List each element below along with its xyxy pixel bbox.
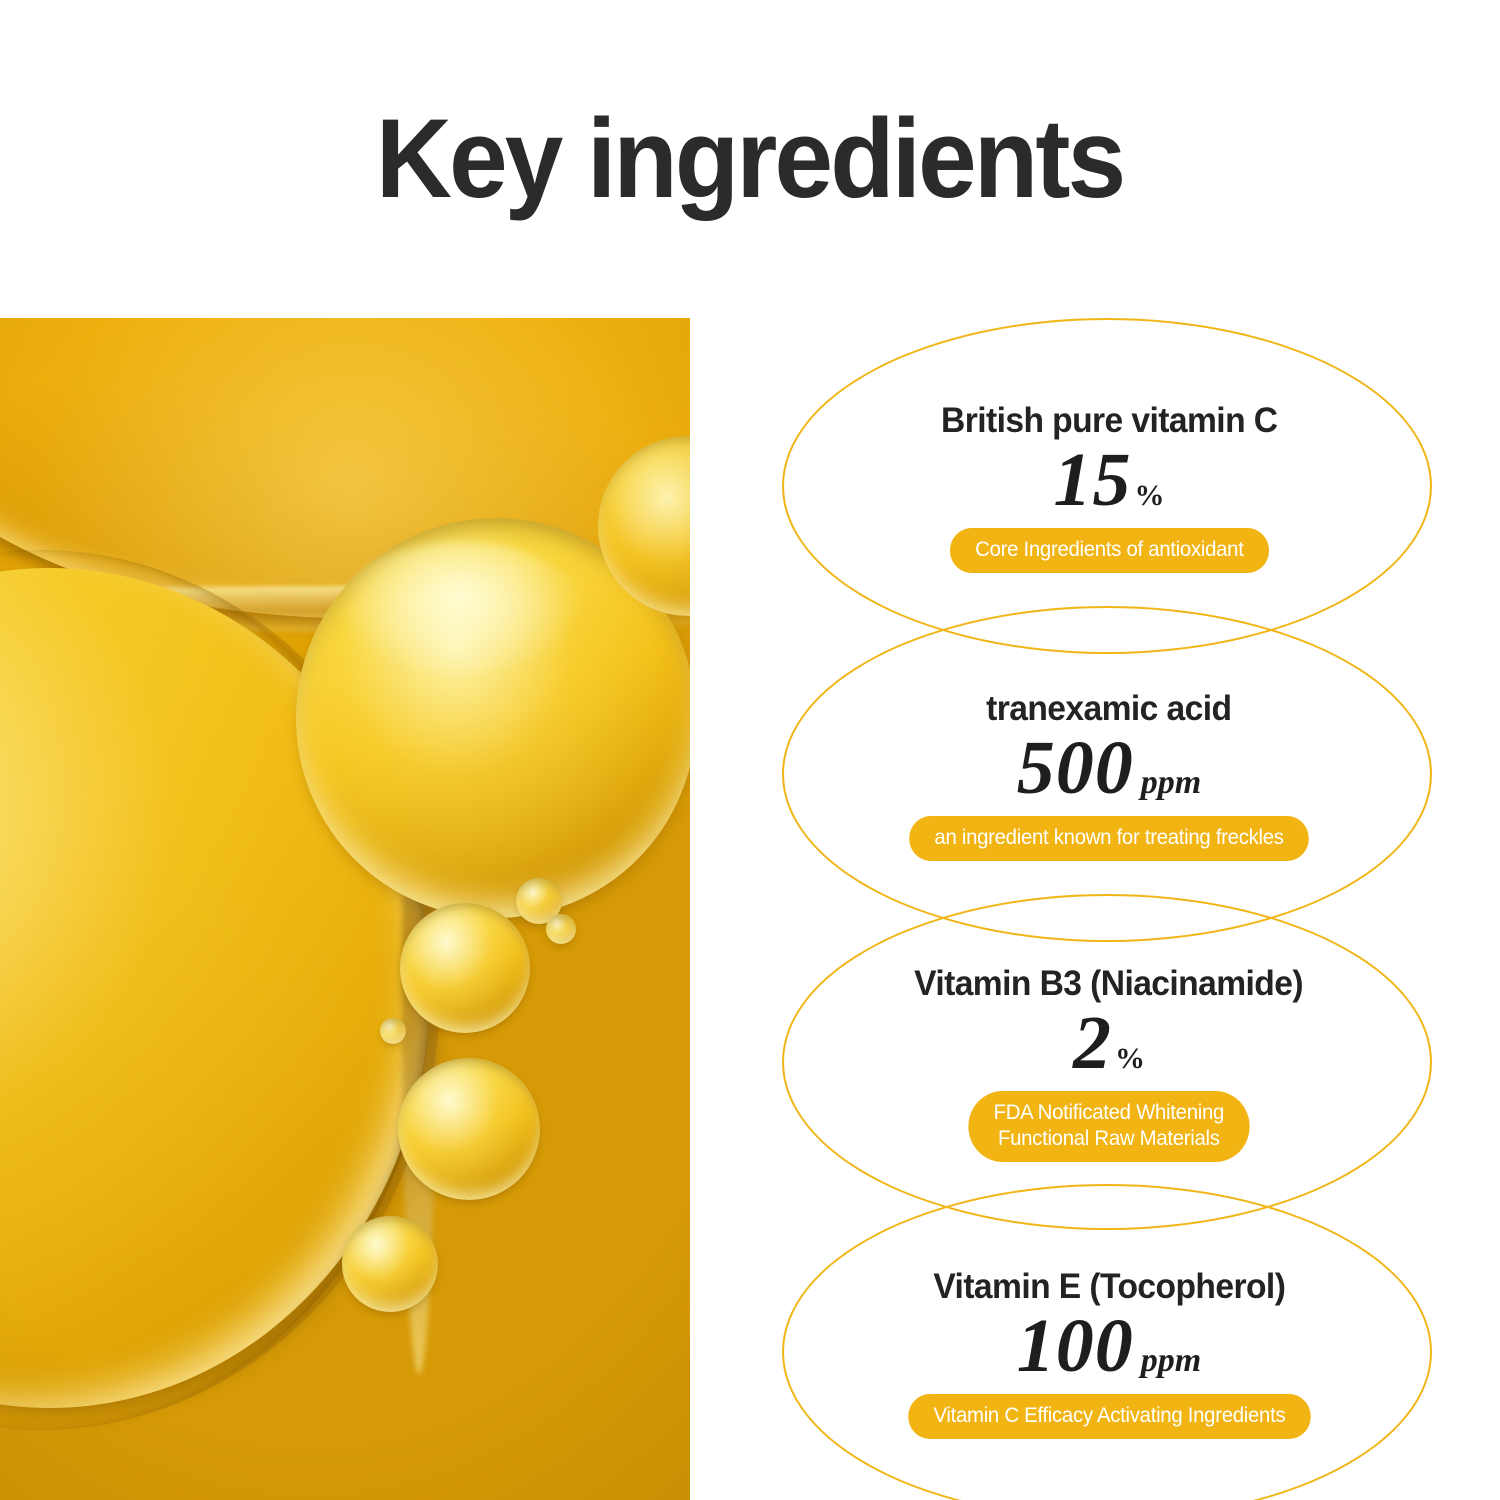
ingredient-card-tranexamic-acid: tranexamic acid 500 ppm an ingredient kn… — [782, 606, 1432, 942]
oil-bubbles-photo — [0, 318, 690, 1500]
page-title: Key ingredients — [376, 103, 1124, 215]
amount-value: 2 — [1073, 1005, 1112, 1081]
amount-unit: % — [1135, 481, 1165, 511]
ingredient-card-list: British pure vitamin C 15 % Core Ingredi… — [770, 318, 1500, 1500]
amount-unit: % — [1115, 1044, 1145, 1074]
ingredient-name: tranexamic acid — [986, 691, 1231, 728]
ingredient-name: Vitamin B3 (Niacinamide) — [915, 966, 1304, 1003]
ingredient-badge: FDA Notificated Whitening Functional Raw… — [969, 1091, 1250, 1163]
ingredient-name: British pure vitamin C — [941, 403, 1277, 440]
ingredients-infographic: Key ingredients British pure vitamin C 1… — [0, 0, 1500, 1500]
amount-value: 100 — [1017, 1308, 1134, 1384]
ingredient-card-vitamin-c: British pure vitamin C 15 % Core Ingredi… — [782, 318, 1432, 654]
card-content: Vitamin E (Tocopherol) 100 ppm Vitamin C… — [784, 1186, 1434, 1500]
amount-value: 500 — [1017, 730, 1134, 806]
ingredient-badge: Vitamin C Efficacy Activating Ingredient… — [908, 1394, 1310, 1439]
ingredient-amount: 100 ppm — [1017, 1308, 1201, 1384]
ingredient-name: Vitamin E (Tocopherol) — [933, 1269, 1285, 1306]
ingredient-amount: 2 % — [1073, 1005, 1145, 1081]
ingredient-badge: Core Ingredients of antioxidant — [950, 528, 1269, 573]
photo-vignette — [0, 318, 690, 1500]
amount-value: 15 — [1054, 442, 1132, 518]
amount-unit: ppm — [1141, 766, 1201, 800]
ingredient-amount: 15 % — [1054, 442, 1165, 518]
ingredient-amount: 500 ppm — [1017, 730, 1201, 806]
ingredient-badge: an ingredient known for treating freckle… — [909, 816, 1309, 861]
title-bar: Key ingredients — [0, 0, 1500, 318]
ingredient-card-vitamin-b3: Vitamin B3 (Niacinamide) 2 % FDA Notific… — [782, 894, 1432, 1230]
ingredient-card-vitamin-e: Vitamin E (Tocopherol) 100 ppm Vitamin C… — [782, 1184, 1432, 1500]
card-content: Vitamin B3 (Niacinamide) 2 % FDA Notific… — [784, 896, 1434, 1232]
amount-unit: ppm — [1141, 1344, 1201, 1378]
